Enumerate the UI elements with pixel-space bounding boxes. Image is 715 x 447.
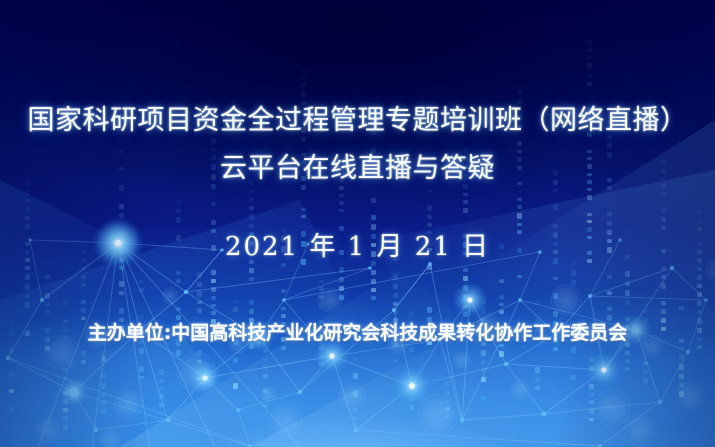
poster-title-line-1: 国家科研项目资金全过程管理专题培训班（网络直播） — [0, 98, 715, 137]
conference-poster: 国家科研项目资金全过程管理专题培训班（网络直播） 云平台在线直播与答疑 2021… — [0, 0, 715, 447]
poster-title-line-2: 云平台在线直播与答疑 — [0, 146, 715, 185]
background-vignette — [0, 0, 715, 447]
event-date: 2021 年 1 月 21 日 — [0, 226, 715, 263]
organizer-line: 主办单位:中国高科技产业化研究会科技成果转化协作工作委员会 — [0, 318, 715, 345]
